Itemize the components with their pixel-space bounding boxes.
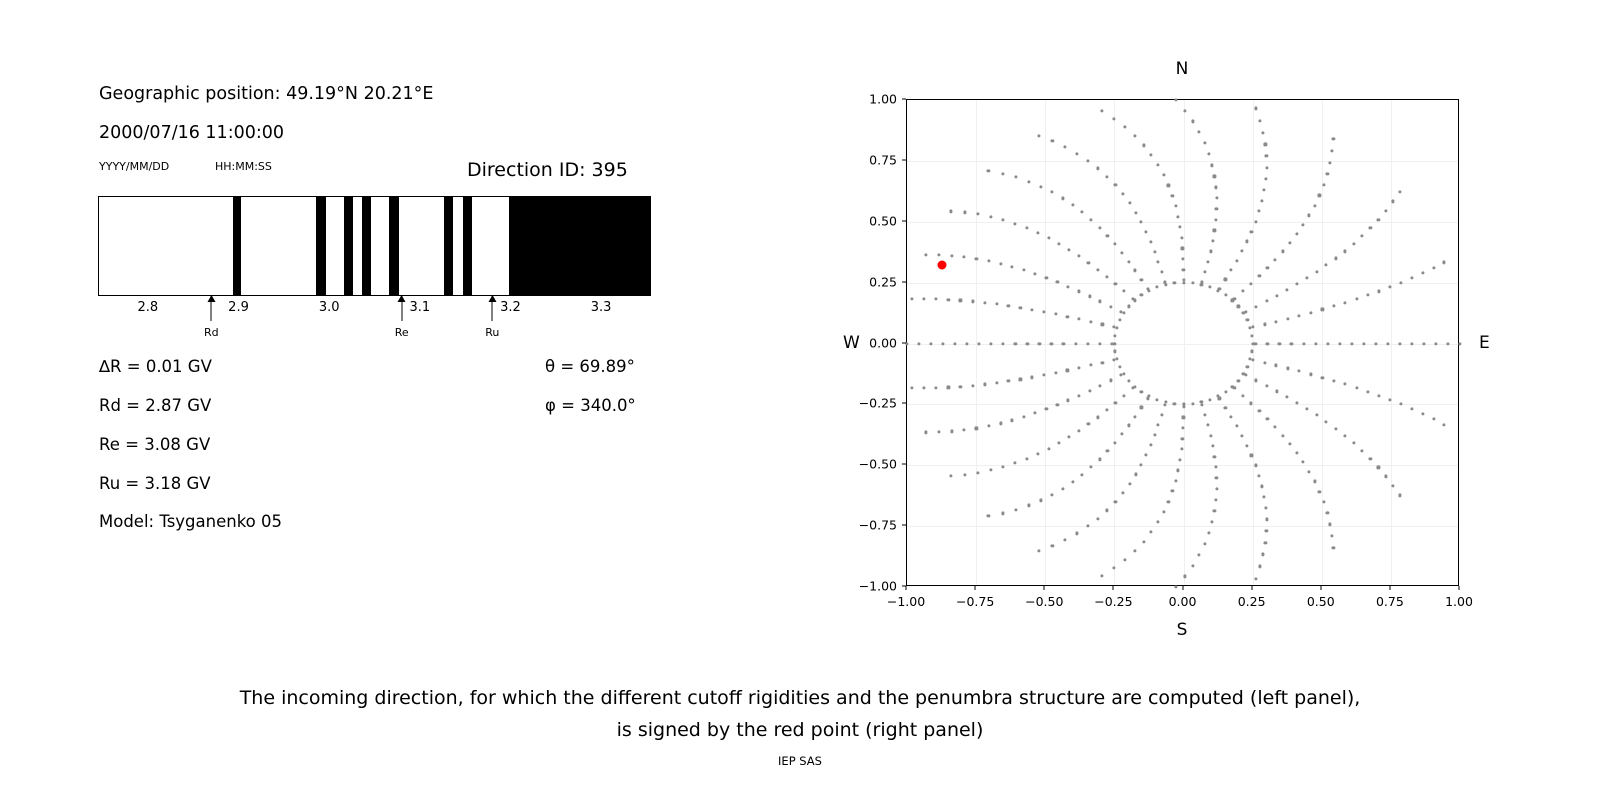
scatter-point	[1246, 319, 1249, 322]
scatter-point	[1377, 218, 1380, 221]
scatter-point	[983, 301, 986, 304]
scatter-point	[1264, 143, 1267, 146]
x-tick-label: 0.25	[1238, 594, 1266, 609]
gridline-vertical	[1045, 100, 1046, 585]
scatter-point	[995, 381, 998, 384]
x-tick-mark	[975, 586, 976, 590]
scatter-point	[1173, 282, 1176, 285]
scatter-point	[1109, 379, 1112, 382]
date-format-hint: YYYY/MM/DD	[99, 160, 169, 173]
scatter-point	[1127, 424, 1130, 427]
scatter-point	[1127, 305, 1130, 308]
scatter-point	[1258, 119, 1261, 122]
scatter-point	[1134, 415, 1137, 418]
scatter-point	[971, 300, 974, 303]
y-tick-mark	[902, 220, 906, 221]
x-tick-label: 1.00	[1445, 594, 1473, 609]
scatter-point	[1022, 268, 1025, 271]
scatter-point	[1089, 364, 1092, 367]
scatter-point	[1215, 207, 1218, 210]
scatter-point	[1421, 412, 1424, 415]
scatter-point	[1263, 361, 1266, 364]
scatter-point	[1315, 414, 1318, 417]
scatter-point	[1233, 387, 1236, 390]
x-tick-mark	[1182, 586, 1183, 590]
scatter-point	[1162, 510, 1165, 513]
x-tick-mark	[1044, 586, 1045, 590]
scatter-point	[1315, 270, 1318, 273]
scatter-point	[1352, 441, 1355, 444]
scatter-point	[1047, 237, 1050, 240]
cutoff-marker-arrow-icon	[211, 295, 212, 321]
scatter-point	[1458, 342, 1461, 345]
scatter-point	[975, 427, 978, 430]
scatter-point	[983, 383, 986, 386]
scatter-point	[1362, 342, 1365, 345]
scatter-point	[1266, 342, 1269, 345]
scatter-point	[1128, 482, 1131, 485]
scatter-point	[978, 342, 981, 345]
scatter-plot-area	[907, 100, 1458, 585]
scatter-point	[1213, 229, 1216, 232]
scatter-point	[1305, 407, 1308, 410]
param-re: Re = 3.08 GV	[99, 435, 210, 454]
scatter-point	[1366, 390, 1369, 393]
x-tick-label: −0.25	[1094, 594, 1132, 609]
scatter-point	[954, 342, 957, 345]
penumbra-band	[389, 197, 399, 295]
scatter-point	[1140, 278, 1143, 281]
scatter-point	[1177, 469, 1180, 472]
scatter-point	[1050, 342, 1053, 345]
penumbra-tick-label: 3.2	[500, 300, 521, 315]
scatter-point	[1246, 365, 1249, 368]
scatter-point	[1265, 529, 1268, 532]
scatter-point	[1352, 242, 1355, 245]
scatter-point	[1211, 164, 1214, 167]
scatter-point	[1281, 434, 1284, 437]
scatter-point	[1313, 480, 1316, 483]
penumbra-tick-label: 2.9	[228, 300, 249, 315]
y-tick-mark	[902, 281, 906, 282]
scatter-point	[935, 386, 938, 389]
scatter-point	[1355, 298, 1358, 301]
y-tick-label: 0.00	[869, 335, 897, 350]
compass-west-label: W	[843, 333, 860, 353]
scatter-point	[1134, 473, 1137, 476]
scatter-point	[1326, 172, 1329, 175]
penumbra-tick-label: 3.3	[591, 300, 612, 315]
scatter-point	[1251, 358, 1254, 361]
scatter-point	[1037, 135, 1040, 138]
y-tick-mark	[902, 342, 906, 343]
scatter-point	[1050, 191, 1053, 194]
scatter-point	[1314, 342, 1317, 345]
scatter-point	[1361, 235, 1364, 238]
scatter-point	[1064, 538, 1067, 541]
scatter-point	[1047, 447, 1050, 450]
scatter-point	[1410, 342, 1413, 345]
scatter-point	[1288, 241, 1291, 244]
scatter-point	[1142, 144, 1145, 147]
scatter-point	[1240, 250, 1243, 253]
scatter-point	[1204, 413, 1207, 416]
cutoff-marker-label: Re	[395, 326, 409, 339]
scatter-point	[1077, 429, 1080, 432]
scatter-point	[947, 386, 950, 389]
scatter-point	[1235, 259, 1238, 262]
scatter-point	[1120, 374, 1123, 377]
scatter-point	[1113, 350, 1116, 353]
scatter-point	[1432, 418, 1435, 421]
scatter-point	[1121, 491, 1124, 494]
scatter-point	[1400, 403, 1403, 406]
scatter-point	[1150, 530, 1153, 533]
penumbra-band	[316, 197, 326, 295]
scatter-point	[1025, 457, 1028, 460]
scatter-point	[1153, 434, 1156, 437]
scatter-point	[1208, 286, 1211, 289]
scatter-point	[1077, 255, 1080, 258]
scatter-point	[1001, 512, 1004, 515]
scatter-point	[922, 297, 925, 300]
scatter-point	[1275, 294, 1278, 297]
scatter-point	[1361, 449, 1364, 452]
scatter-point	[1266, 266, 1269, 269]
x-tick-label: −1.00	[887, 594, 925, 609]
scatter-point	[1254, 342, 1257, 345]
scatter-point	[1309, 311, 1312, 314]
scatter-point	[1114, 184, 1117, 187]
scatter-point	[1145, 453, 1148, 456]
scatter-point	[1329, 161, 1332, 164]
scatter-point	[1066, 315, 1069, 318]
scatter-point	[1254, 107, 1257, 110]
scatter-point	[1322, 501, 1325, 504]
datetime-label: 2000/07/16 11:00:00	[99, 123, 284, 143]
scatter-point	[1088, 295, 1091, 298]
scatter-point	[1002, 342, 1005, 345]
penumbra-tick-label: 3.1	[409, 300, 430, 315]
scatter-point	[1218, 287, 1221, 290]
scatter-point	[1160, 271, 1163, 274]
scatter-point	[1264, 541, 1267, 544]
scatter-point	[1081, 211, 1084, 214]
scatter-point	[1321, 376, 1324, 379]
scatter-point	[1011, 265, 1014, 268]
scatter-point	[1207, 531, 1210, 534]
scatter-point	[1398, 494, 1401, 497]
caption-line-2: is signed by the red point (right panel)	[0, 714, 1600, 746]
scatter-point	[950, 254, 953, 257]
x-tick-label: 0.50	[1307, 594, 1335, 609]
scatter-point	[1265, 518, 1268, 521]
scatter-point	[1174, 99, 1177, 102]
scatter-point	[1275, 364, 1278, 367]
scatter-point	[1098, 226, 1101, 229]
gridline-vertical	[1184, 100, 1185, 585]
scatter-point	[1157, 260, 1160, 263]
scatter-point	[1275, 320, 1278, 323]
penumbra-tick-label: 2.8	[138, 300, 159, 315]
scatter-point	[1262, 131, 1265, 134]
scatter-point	[1377, 290, 1380, 293]
scatter-point	[1263, 496, 1266, 499]
scatter-point	[1274, 258, 1277, 261]
scatter-point	[1074, 342, 1077, 345]
scatter-point	[1213, 509, 1216, 512]
x-tick-label: 0.75	[1376, 594, 1404, 609]
scatter-point	[1215, 487, 1218, 490]
penumbra-band	[344, 197, 353, 295]
scatter-point	[1321, 308, 1324, 311]
scatter-point	[1123, 290, 1126, 293]
left-panel: Geographic position: 49.19°N 20.21°E 200…	[0, 0, 760, 620]
scatter-point	[1156, 163, 1159, 166]
scatter-point	[1039, 499, 1042, 502]
scatter-point	[1213, 455, 1216, 458]
scatter-point	[987, 169, 990, 172]
scatter-point	[1037, 549, 1040, 552]
scatter-point	[1061, 487, 1064, 490]
scatter-point	[1178, 458, 1181, 461]
scatter-point	[987, 425, 990, 428]
scatter-point	[1237, 305, 1240, 308]
param-theta: θ = 69.89°	[545, 357, 635, 376]
scatter-point	[1076, 532, 1079, 535]
scatter-point	[1302, 342, 1305, 345]
scatter-point	[1114, 500, 1117, 503]
scatter-point	[1298, 370, 1301, 373]
scatter-point	[1133, 549, 1136, 552]
scatter-point	[1288, 443, 1291, 446]
scatter-point	[1215, 476, 1218, 479]
x-tick-label: −0.50	[1025, 594, 1063, 609]
scatter-point	[1344, 383, 1347, 386]
scatter-point	[1254, 577, 1257, 580]
scatter-point	[1113, 441, 1116, 444]
compass-south-label: S	[1177, 620, 1188, 640]
scatter-point	[1302, 223, 1305, 226]
scatter-point	[1045, 408, 1048, 411]
scatter-point	[1106, 450, 1109, 453]
scatter-point	[976, 471, 979, 474]
scatter-point	[1025, 226, 1028, 229]
scatter-point	[924, 431, 927, 434]
scatter-point	[1224, 294, 1227, 297]
scatter-point	[1086, 342, 1089, 345]
scatter-point	[1245, 240, 1248, 243]
scatter-point	[1182, 405, 1185, 408]
scatter-point	[1309, 373, 1312, 376]
scatter-point	[1149, 240, 1152, 243]
param-ru: Ru = 3.18 GV	[99, 474, 211, 493]
scatter-point	[1278, 342, 1281, 345]
scatter-point	[1422, 342, 1425, 345]
scatter-point	[1265, 155, 1268, 158]
scatter-point	[1191, 282, 1194, 285]
scatter-point	[1027, 180, 1030, 183]
scatter-point	[1099, 384, 1102, 387]
scatter-point	[1298, 314, 1301, 317]
y-tick-mark	[902, 159, 906, 160]
scatter-point	[1099, 300, 1102, 303]
scatter-point	[1302, 461, 1305, 464]
scatter-point	[1019, 378, 1022, 381]
scatter-point	[1313, 204, 1316, 207]
cutoff-marker-label: Ru	[485, 326, 499, 339]
penumbra-band	[362, 197, 371, 295]
scatter-point	[1265, 299, 1268, 302]
scatter-point	[1384, 475, 1387, 478]
scatter-point	[1290, 342, 1293, 345]
scatter-point	[1224, 406, 1227, 409]
scatter-point	[1258, 565, 1261, 568]
scatter-point	[1096, 167, 1099, 170]
scatter-point	[929, 342, 932, 345]
scatter-point	[1198, 131, 1201, 134]
scatter-point	[1007, 304, 1010, 307]
scatter-point	[1254, 464, 1257, 467]
penumbra-band	[233, 197, 241, 295]
scatter-point	[1106, 509, 1109, 512]
scatter-point	[963, 255, 966, 258]
scatter-point	[1264, 507, 1267, 510]
scatter-point	[959, 385, 962, 388]
scatter-point	[1191, 564, 1194, 567]
compass-north-label: N	[1176, 59, 1189, 79]
scatter-point	[1089, 320, 1092, 323]
scatter-point	[1332, 137, 1335, 140]
scatter-point	[1134, 269, 1137, 272]
scatter-point	[1120, 251, 1123, 254]
scatter-point	[1019, 306, 1022, 309]
caption-line-1: The incoming direction, for which the di…	[0, 682, 1600, 714]
scatter-point	[1308, 470, 1311, 473]
param-phi: φ = 340.0°	[545, 396, 636, 415]
scatter-point	[1160, 413, 1163, 416]
scatter-point	[1050, 493, 1053, 496]
scatter-point	[963, 211, 966, 214]
scatter-point	[995, 302, 998, 305]
scatter-point	[1054, 313, 1057, 316]
scatter-point	[1386, 342, 1389, 345]
scatter-point	[1064, 145, 1067, 148]
penumbra-band	[463, 197, 472, 295]
scatter-point	[1377, 394, 1380, 397]
scatter-point	[1105, 275, 1108, 278]
scatter-point	[1068, 436, 1071, 439]
scatter-point	[1213, 175, 1216, 178]
scatter-point	[1218, 397, 1221, 400]
scatter-point	[1203, 142, 1206, 145]
scatter-point	[1068, 248, 1071, 251]
scatter-point	[1230, 269, 1233, 272]
scatter-point	[1262, 553, 1265, 556]
cutoff-marker-label: Rd	[204, 326, 219, 339]
scatter-point	[1106, 175, 1109, 178]
scatter-point	[1326, 342, 1329, 345]
scatter-point	[1255, 379, 1258, 382]
scatter-point	[1134, 211, 1137, 214]
param-model: Model: Tsyganenko 05	[99, 512, 282, 531]
scatter-point	[1036, 231, 1039, 234]
scatter-point	[1369, 226, 1372, 229]
scatter-point	[1086, 525, 1089, 528]
x-tick-mark	[1113, 586, 1114, 590]
y-tick-label: 0.50	[869, 213, 897, 228]
scatter-point	[1100, 109, 1103, 112]
scatter-point	[1214, 466, 1217, 469]
scatter-point	[1140, 406, 1143, 409]
scatter-point	[1171, 194, 1174, 197]
scatter-point	[1115, 358, 1118, 361]
scatter-point	[937, 431, 940, 434]
scatter-point	[1209, 250, 1212, 253]
scatter-point	[1241, 290, 1244, 293]
scatter-point	[1146, 397, 1149, 400]
scatter-point	[1026, 342, 1029, 345]
scatter-point	[1162, 174, 1165, 177]
scatter-point	[1034, 272, 1037, 275]
scatter-point	[1174, 585, 1177, 588]
scatter-point	[1086, 159, 1089, 162]
scatter-point	[1215, 197, 1218, 200]
selected-direction-marker[interactable]	[937, 261, 946, 270]
scatter-point	[1155, 398, 1158, 401]
scatter-point	[1257, 474, 1260, 477]
scatter-point	[1087, 261, 1090, 264]
param-delta-r: ∆R = 0.01 GV	[99, 357, 212, 376]
scatter-point	[1071, 203, 1074, 206]
scatter-point	[1241, 394, 1244, 397]
scatter-point	[1325, 420, 1328, 423]
scatter-point	[1140, 390, 1143, 393]
scatter-point	[1027, 504, 1030, 507]
scatter-point	[1326, 512, 1329, 515]
scatter-point	[1105, 409, 1108, 412]
y-tick-label: −0.75	[859, 518, 897, 533]
scatter-point	[1411, 276, 1414, 279]
scatter-point	[950, 474, 953, 477]
scatter-point	[1214, 186, 1217, 189]
scatter-point	[1398, 190, 1401, 193]
scatter-point	[1191, 120, 1194, 123]
x-tick-mark	[906, 586, 907, 590]
y-tick-label: 0.25	[869, 274, 897, 289]
scatter-point	[1034, 412, 1037, 415]
scatter-point	[1127, 379, 1130, 382]
scatter-point	[1140, 294, 1143, 297]
scatter-point	[999, 422, 1002, 425]
scatter-point	[1087, 423, 1090, 426]
scatter-point	[1071, 480, 1074, 483]
scatter-point	[1391, 484, 1394, 487]
scatter-point	[1058, 442, 1061, 445]
scatter-point	[1183, 109, 1186, 112]
scatter-point	[1258, 274, 1261, 277]
y-tick-label: −1.00	[859, 579, 897, 594]
direction-id-label: Direction ID: 395	[467, 159, 628, 181]
scatter-point	[1318, 490, 1321, 493]
scatter-point	[1369, 457, 1372, 460]
scatter-point	[1265, 384, 1268, 387]
scatter-point	[1118, 319, 1121, 322]
scatter-point	[1355, 386, 1358, 389]
scatter-point	[1274, 426, 1277, 429]
x-tick-mark	[1459, 586, 1460, 590]
scatter-point	[1056, 403, 1059, 406]
